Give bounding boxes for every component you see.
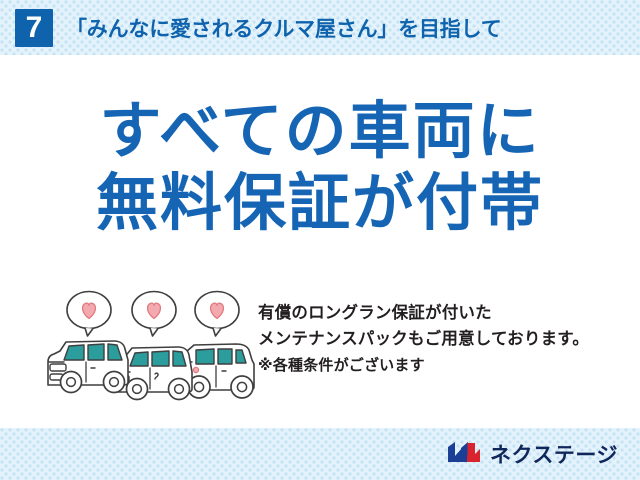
step-number-badge: 7 bbox=[15, 9, 53, 47]
header-title: 「みんなに愛されるクルマ屋さん」を目指して bbox=[66, 13, 502, 43]
description-line-2: メンテナンスパックもご用意しております。 bbox=[258, 326, 636, 352]
description-line-1: 有償のロングラン保証が付いた bbox=[258, 300, 636, 326]
headline: すべての車両に 無料保証が付帯 bbox=[0, 95, 640, 239]
car-kei-wagon bbox=[48, 341, 128, 393]
brand-name: ネクステージ bbox=[490, 439, 618, 469]
nextage-n-logo-icon bbox=[447, 440, 481, 469]
description-text: 有償のロングラン保証が付いた メンテナンスパックもご用意しております。 ※各種条… bbox=[258, 300, 636, 378]
midsection: 有償のロングラン保証が付いた メンテナンスパックもご用意しております。 ※各種条… bbox=[0, 288, 640, 408]
heart-bubble-3 bbox=[195, 292, 239, 337]
description-note: ※各種条件がございます bbox=[258, 352, 636, 378]
header-inner: 7 「みんなに愛されるクルマ屋さん」を目指して bbox=[0, 0, 640, 55]
header-band: 7 「みんなに愛されるクルマ屋さん」を目指して bbox=[0, 0, 640, 55]
heart-bubble-1 bbox=[67, 292, 111, 337]
headline-line-2: 無料保証が付帯 bbox=[0, 167, 640, 239]
heart-bubble-2 bbox=[132, 292, 176, 337]
headline-line-1: すべての車両に bbox=[0, 95, 640, 167]
cars-illustration bbox=[36, 288, 266, 403]
brand-logo: ネクステージ bbox=[447, 428, 618, 480]
footer-band: ネクステージ bbox=[0, 428, 640, 480]
